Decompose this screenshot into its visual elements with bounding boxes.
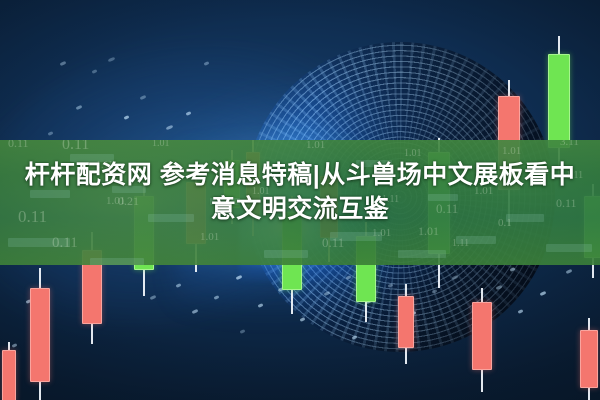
candle-body [2, 350, 16, 400]
headline-line-2: 意文明交流互鉴 [0, 192, 600, 226]
ticker-number: 1.01 [152, 140, 170, 149]
candle-body [548, 54, 570, 148]
ticker-number: 0.11 [52, 235, 78, 252]
ticker-number: 0.11 [62, 140, 89, 154]
headline-line-1: 杆杆配资网 参考消息特稿|从斗兽场中文展板看中 [0, 158, 600, 192]
candle-body [30, 288, 50, 382]
ticker-bar [90, 258, 144, 265]
ticker-number: 1.11 [452, 238, 469, 249]
headline-text: 杆杆配资网 参考消息特稿|从斗兽场中文展板看中 意文明交流互鉴 [0, 158, 600, 226]
candle-body [398, 296, 414, 348]
ticker-number: 1.01 [502, 145, 521, 157]
ticker-number: 1.01 [418, 224, 439, 239]
ticker-bar [546, 244, 592, 252]
candle-body [472, 302, 492, 370]
promo-image: 0.110.110.111.011.111.011.010.211.010.21… [0, 0, 600, 400]
ticker-number: 1.01 [306, 140, 325, 151]
ticker-bar [398, 250, 446, 258]
ticker-number: 0.11 [8, 140, 29, 151]
candle-body [580, 330, 598, 388]
ticker-bar [264, 250, 308, 258]
ticker-number: 0.11 [322, 235, 344, 251]
ticker-number: 3.11 [560, 140, 579, 148]
ticker-number: 1.01 [200, 231, 219, 243]
ticker-number: 1.01 [372, 227, 391, 239]
